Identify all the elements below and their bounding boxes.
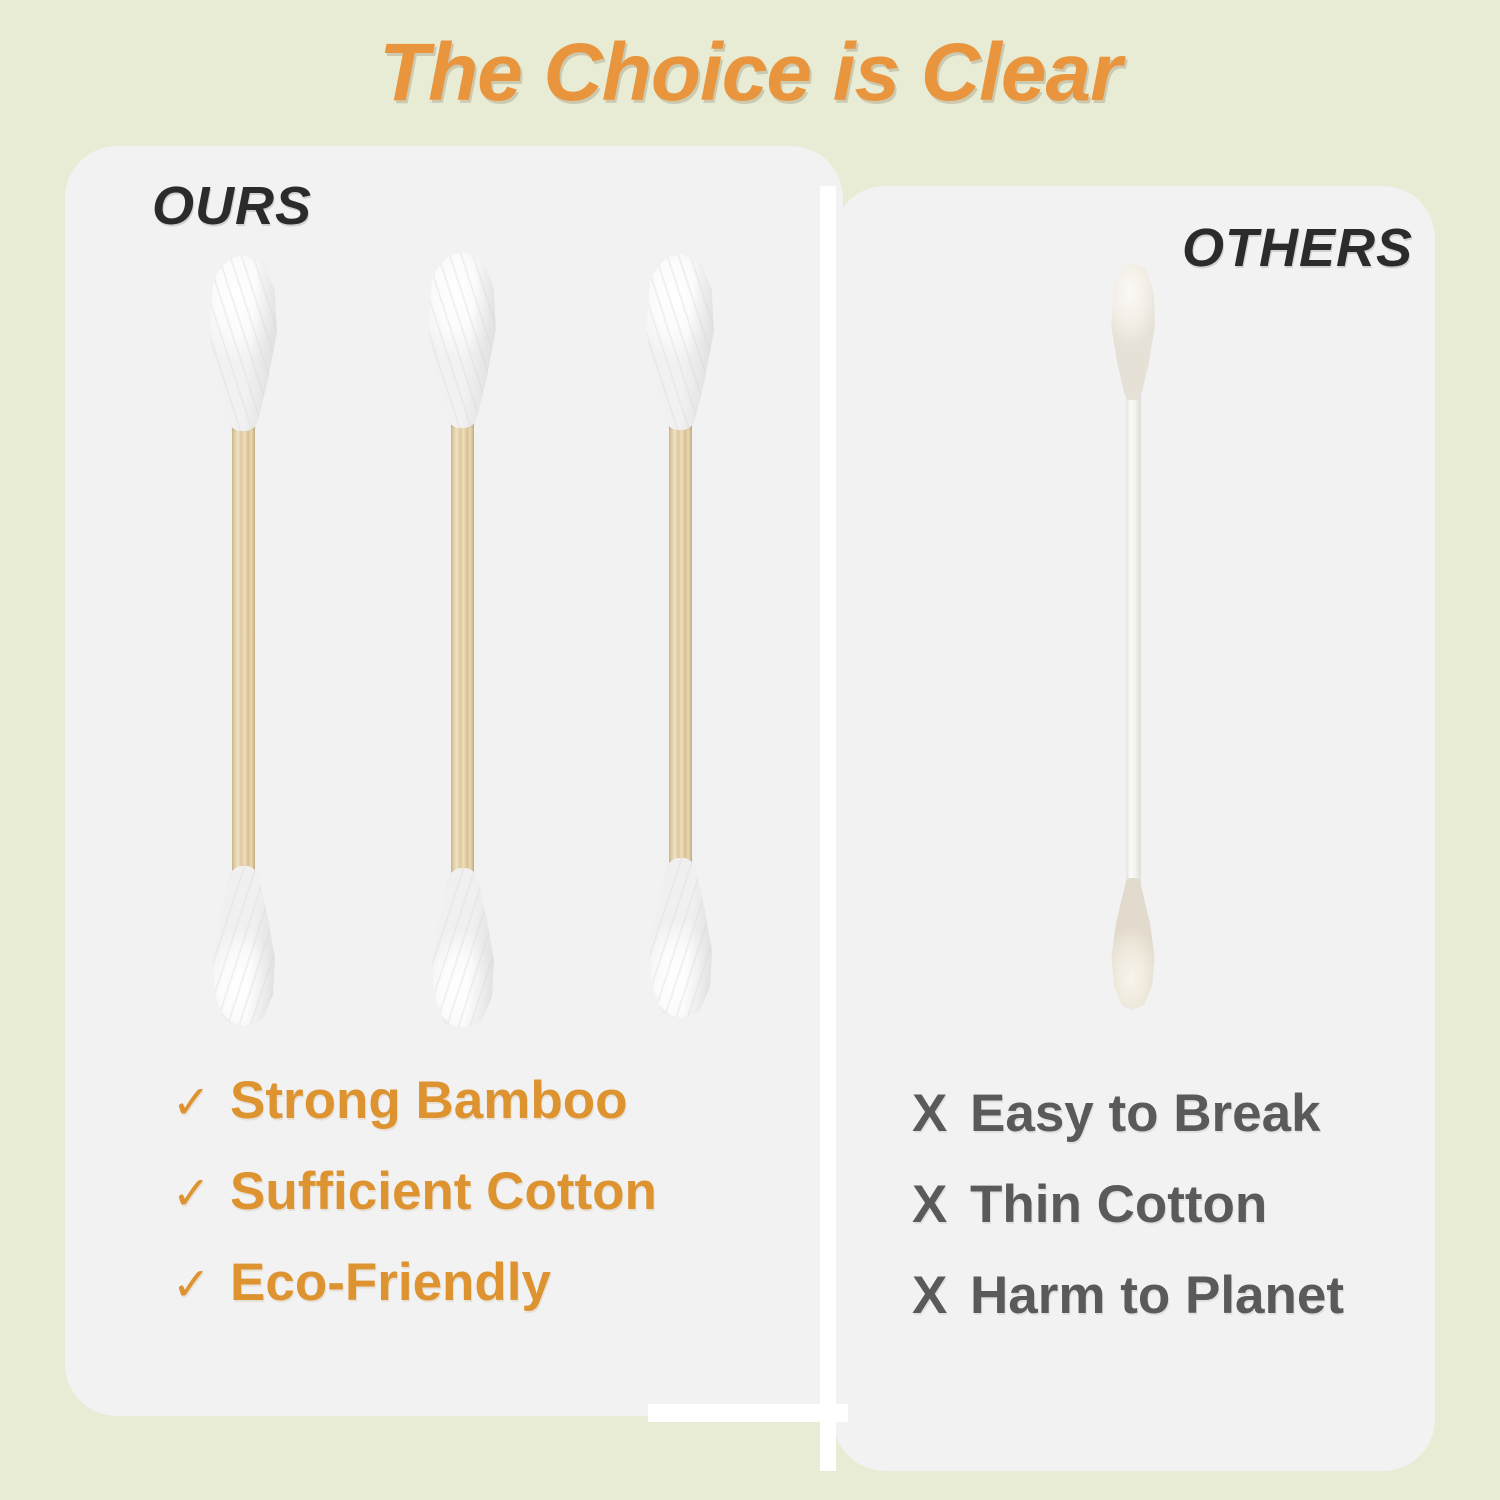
feature-label: Thin Cotton [970, 1174, 1267, 1235]
feature-item: X Harm to Planet [912, 1265, 1344, 1326]
feature-label: Harm to Planet [970, 1265, 1344, 1326]
feature-item: ✓ Sufficient Cotton [172, 1161, 657, 1222]
feature-list-ours: ✓ Strong Bamboo ✓ Sufficient Cotton ✓ Ec… [172, 1070, 657, 1343]
check-icon: ✓ [172, 1075, 230, 1129]
card-divider-horizontal [648, 1404, 848, 1422]
feature-label: Sufficient Cotton [230, 1161, 657, 1222]
feature-label: Strong Bamboo [230, 1070, 627, 1131]
check-icon: ✓ [172, 1257, 230, 1311]
bamboo-stick-icon [451, 400, 474, 920]
bamboo-stick-icon [669, 398, 692, 910]
check-icon: ✓ [172, 1166, 230, 1220]
card-label-others: OTHERS [1182, 217, 1413, 279]
x-icon: X [912, 1174, 970, 1235]
page-title: The Choice is Clear [0, 26, 1500, 120]
bamboo-stick-icon [232, 400, 255, 920]
feature-item: X Easy to Break [912, 1083, 1344, 1144]
card-divider-vertical [820, 186, 836, 1471]
feature-label: Eco-Friendly [230, 1252, 551, 1313]
x-icon: X [912, 1083, 970, 1144]
feature-item: ✓ Eco-Friendly [172, 1252, 657, 1313]
feature-label: Easy to Break [970, 1083, 1321, 1144]
feature-item: ✓ Strong Bamboo [172, 1070, 657, 1131]
feature-list-others: X Easy to Break X Thin Cotton X Harm to … [912, 1083, 1344, 1356]
card-label-ours: OURS [152, 175, 312, 237]
x-icon: X [912, 1265, 970, 1326]
feature-item: X Thin Cotton [912, 1174, 1344, 1235]
plastic-stick-icon [1126, 385, 1141, 910]
